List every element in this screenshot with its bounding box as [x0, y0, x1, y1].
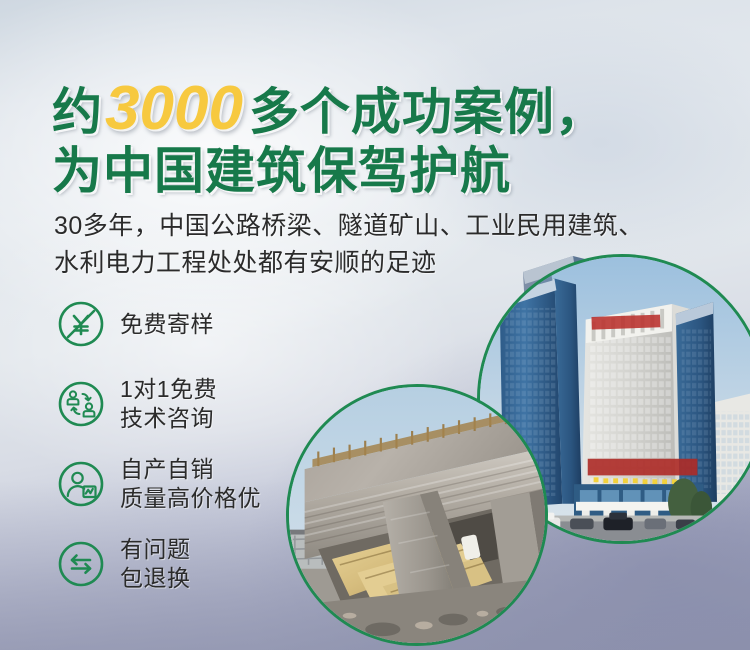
- headline-suffix: 多个成功案例，: [249, 84, 606, 140]
- feature-label-line-1: 自产自销: [120, 455, 261, 484]
- feature-label-consultation: 1对1免费 技术咨询: [120, 375, 217, 433]
- feature-label-free-sample: 免费寄样: [120, 310, 214, 339]
- page-title: 约3000多个成功案例， 为中国建筑保驾护航: [52, 78, 606, 208]
- feature-label-self-production: 自产自销 质量高价格优: [120, 455, 261, 513]
- subtitle-line-1: 30多年，中国公路桥梁、隧道矿山、工业民用建筑、: [54, 208, 644, 245]
- feature-label-line-2: 质量高价格优: [120, 484, 261, 513]
- feature-label-line-1: 1对1免费: [120, 375, 217, 404]
- feature-label-line-1: 有问题: [120, 535, 191, 564]
- feature-label-line-2: 包退换: [120, 564, 191, 593]
- self-production-icon: [56, 459, 106, 509]
- feature-item-free-sample[interactable]: 免费寄样: [56, 296, 316, 352]
- free-sample-icon: [56, 299, 106, 349]
- feature-label-return-exchange: 有问题 包退换: [120, 535, 191, 593]
- feature-item-self-production[interactable]: 自产自销 质量高价格优: [56, 456, 316, 512]
- return-exchange-icon: [56, 539, 106, 589]
- headline-line-2: 为中国建筑保驾护航: [52, 146, 606, 208]
- feature-item-consultation[interactable]: 1对1免费 技术咨询: [56, 376, 316, 432]
- promo-banner: 约3000多个成功案例， 为中国建筑保驾护航 30多年，中国公路桥梁、隧道矿山、…: [0, 0, 750, 650]
- feature-label-line-1: 免费寄样: [120, 310, 214, 339]
- feature-item-return-exchange[interactable]: 有问题 包退换: [56, 536, 316, 592]
- bridge-photo: [286, 384, 548, 646]
- consultation-icon: [56, 379, 106, 429]
- headline-line-1: 约3000多个成功案例，: [52, 78, 606, 144]
- headline-prefix: 约: [52, 84, 103, 140]
- feature-list: 免费寄样 1对1免费: [56, 296, 316, 592]
- headline-line2-text: 为中国建筑保驾护航: [52, 143, 511, 199]
- feature-label-line-2: 技术咨询: [120, 404, 217, 433]
- headline-number: 3000: [103, 74, 249, 143]
